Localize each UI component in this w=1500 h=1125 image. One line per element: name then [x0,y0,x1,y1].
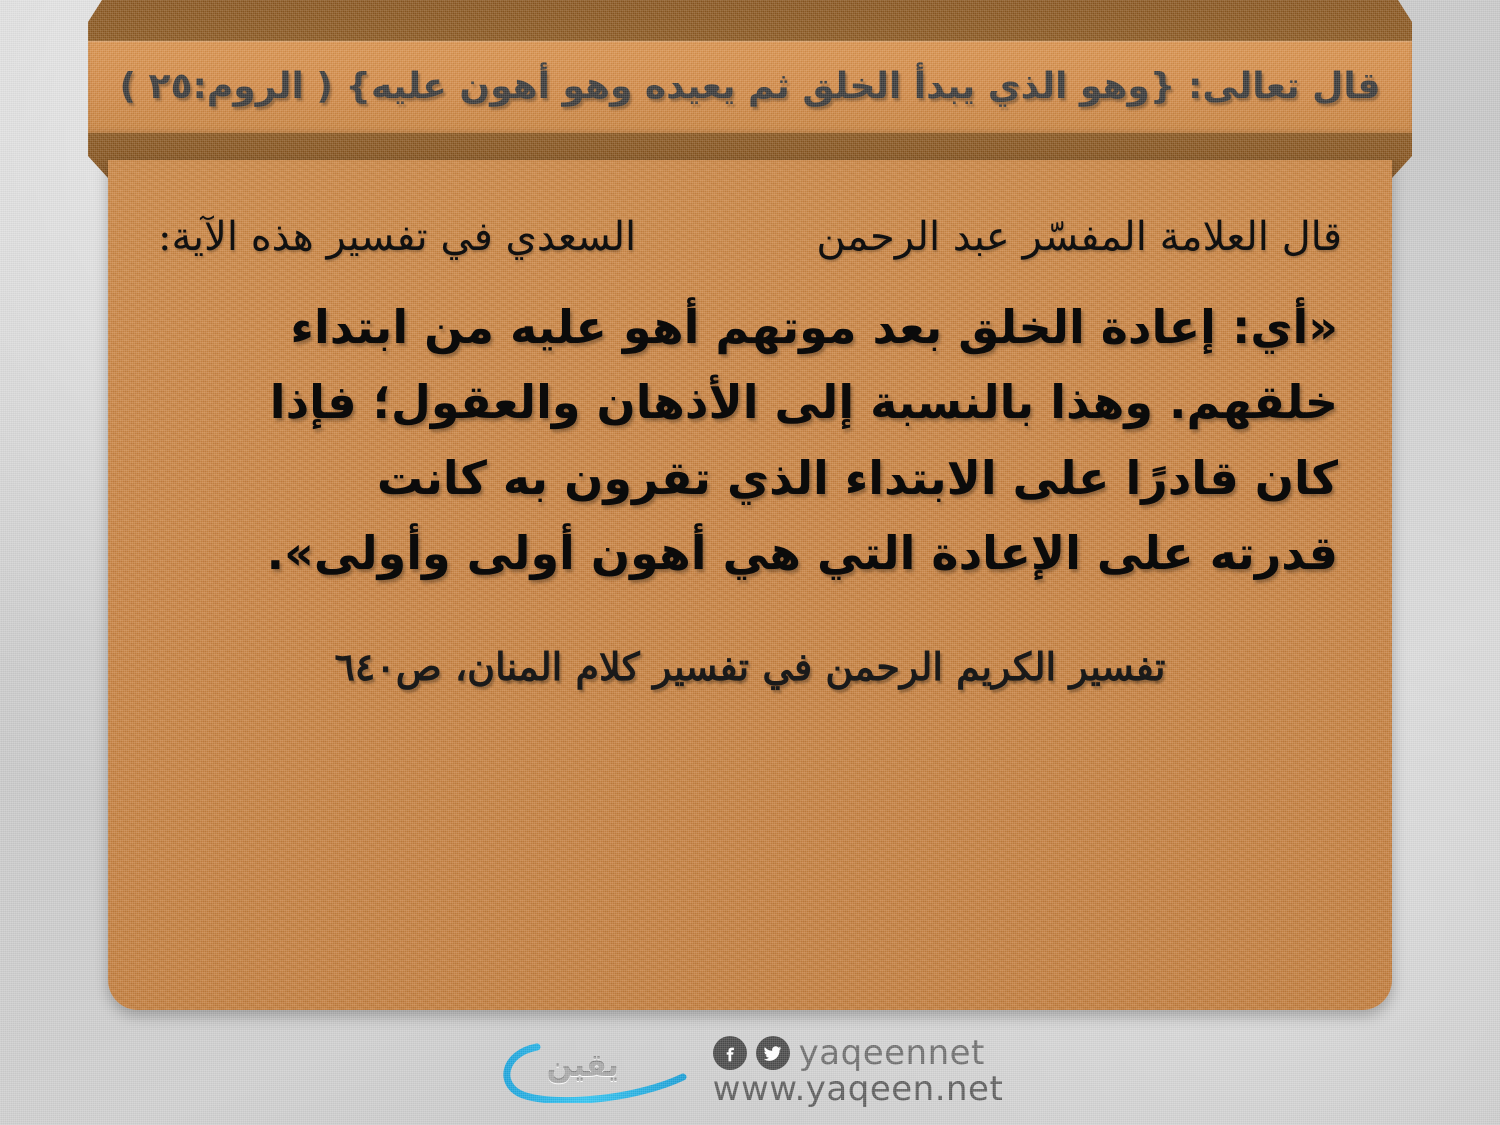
site-footer: يقين yaqeennet www.yaqeen.net [0,1032,1500,1112]
twitter-icon[interactable] [756,1036,790,1070]
quote-line-text: قدرته على الإعادة التي هي أهون أولى وأول… [267,522,1338,585]
brand-row-top: yaqeennet [713,1036,1004,1070]
brand-website-url[interactable]: www.yaqeen.net [713,1072,1004,1108]
brand-handle: yaqeennet [799,1036,985,1070]
tafsir-quote-block: «أي: إعادة الخلق بعد موتهم أهو عليه من ا… [162,296,1338,586]
card-body-panel: قال العلامة المفسّر عبد الرحمن السعدي في… [108,160,1392,1010]
twitter-glyph [762,1043,783,1064]
page-background: قال تعالى: {وهو الذي يبدأ الخلق ثم يعيده… [0,0,1500,1125]
quote-line-text: كان قادرًا على الابتداء الذي تقرون به كا… [377,447,1338,510]
card-header-band: قال تعالى: {وهو الذي يبدأ الخلق ثم يعيده… [88,41,1412,133]
quote-line: قدرته على الإعادة التي هي أهون أولى وأول… [162,522,1338,585]
quote-line-text: خلقهم. وهذا بالنسبة إلى الأذهان والعقول؛… [270,371,1338,434]
card-body-content: قال العلامة المفسّر عبد الرحمن السعدي في… [108,160,1392,689]
quote-line: كان قادرًا على الابتداء الذي تقرون به كا… [162,447,1338,510]
quote-line-text: «أي: إعادة الخلق بعد موتهم أهو عليه من ا… [290,296,1338,359]
intro-right-segment: قال العلامة المفسّر عبد الرحمن [816,212,1342,262]
quote-line: خلقهم. وهذا بالنسبة إلى الأذهان والعقول؛… [162,371,1338,434]
quote-line: «أي: إعادة الخلق بعد موتهم أهو عليه من ا… [162,296,1338,359]
yaqeen-logo[interactable]: يقين [497,1041,687,1103]
facebook-glyph [720,1043,740,1063]
intro-attribution-line: قال العلامة المفسّر عبد الرحمن السعدي في… [158,212,1342,262]
source-citation: تفسير الكريم الرحمن في تفسير كلام المنان… [148,644,1352,689]
facebook-icon[interactable] [713,1036,747,1070]
content-card: قال تعالى: {وهو الذي يبدأ الخلق ثم يعيده… [88,0,1412,1010]
intro-left-segment: السعدي في تفسير هذه الآية: [158,212,636,262]
brand-block: yaqeennet www.yaqeen.net [713,1036,1004,1108]
quran-verse-header: قال تعالى: {وهو الذي يبدأ الخلق ثم يعيده… [120,69,1381,105]
logo-wordmark: يقين [547,1049,619,1084]
